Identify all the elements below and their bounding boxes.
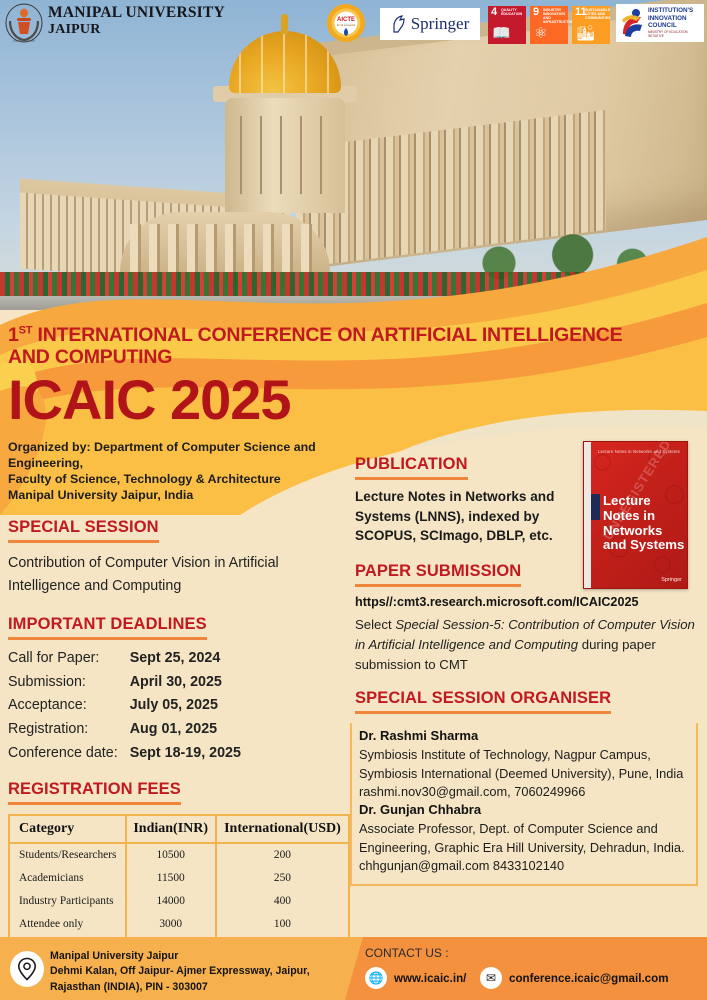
- address-line2: Dehmi Kalan, Off Jaipur- Ajmer Expresswa…: [50, 964, 310, 979]
- organized-by-line1: Organized by: Department of Computer Sci…: [8, 440, 350, 472]
- website-contact[interactable]: 🌐 www.icaic.in/: [365, 967, 466, 989]
- title-line2: AND COMPUTING: [8, 346, 172, 368]
- fees-cell-inr: 10500: [126, 843, 216, 867]
- deadline-value: Sept 25, 2024: [130, 647, 241, 671]
- sdg-4-glyph: 📖: [492, 26, 511, 41]
- deadline-row: Submission:April 30, 2025: [8, 670, 241, 694]
- iic-line2: INNOVATION: [648, 15, 704, 23]
- title-ordinal-suffix: ST: [19, 325, 33, 337]
- organized-by-line2: Faculty of Science, Technology & Archite…: [8, 472, 350, 488]
- paper-submission-heading: PAPER SUBMISSION: [355, 562, 521, 587]
- title-block: 1ST INTERNATIONAL CONFERENCE ON ARTIFICI…: [8, 324, 698, 428]
- deadline-value: Aug 01, 2025: [130, 718, 241, 742]
- university-name-line2: JAIPUR: [48, 22, 225, 37]
- iic-text: INSTITUTION'S INNOVATION COUNCIL MINISTR…: [648, 7, 704, 39]
- deadline-row: Call for Paper:Sept 25, 2024: [8, 647, 241, 671]
- conference-poster: INSPIRED BY LIFE MANIPAL UNIVERSITY JAIP…: [0, 0, 707, 1000]
- deadline-value: Sept 18-19, 2025: [130, 741, 241, 765]
- poster-header: INSPIRED BY LIFE MANIPAL UNIVERSITY JAIP…: [0, 0, 707, 46]
- organiser-entry: Dr. Gunjan Chhabra Associate Professor, …: [359, 801, 689, 875]
- pavement-kerb: [0, 296, 707, 310]
- fees-header-row: CategoryIndian(INR)International(USD): [9, 815, 349, 843]
- special-session-text: Contribution of Computer Vision in Artif…: [8, 552, 350, 598]
- organized-by-line3: Manipal University Jaipur, India: [8, 488, 350, 504]
- campus-photo: [0, 0, 707, 310]
- lnns-book-cover: Lecture Notes in Networks and Systems UN…: [583, 441, 688, 589]
- fees-column-header: Indian(INR): [126, 815, 216, 843]
- sdg-9-icon: 9 INDUSTRY INNOVATION AND INFRASTRUCTURE…: [530, 6, 568, 44]
- fees-column-header: International(USD): [216, 815, 349, 843]
- envelope-icon: ✉: [480, 967, 502, 989]
- registration-fees-table: CategoryIndian(INR)International(USD) St…: [8, 814, 350, 946]
- deadline-row: Registration:Aug 01, 2025: [8, 718, 241, 742]
- manipal-university-logo: INSPIRED BY LIFE: [4, 3, 44, 43]
- fees-cell-inr: 11500: [126, 867, 216, 890]
- svg-text:AICTE: AICTE: [337, 17, 355, 23]
- deadlines-table: Call for Paper:Sept 25, 2024Submission:A…: [8, 647, 241, 765]
- iic-logo: INSTITUTION'S INNOVATION COUNCIL MINISTR…: [616, 4, 704, 42]
- dome-drum: [225, 98, 345, 213]
- poster-footer: Manipal University Jaipur Dehmi Kalan, O…: [0, 937, 707, 1000]
- organiser-contact[interactable]: rashmi.nov30@gmail.com, 7060249966: [359, 783, 689, 801]
- university-name: MANIPAL UNIVERSITY JAIPUR: [48, 5, 225, 37]
- table-row: Industry Participants14000400: [9, 890, 349, 913]
- springer-wordmark: Springer: [411, 14, 470, 34]
- sdg-9-label: INDUSTRY INNOVATION AND INFRASTRUCTURE: [543, 8, 566, 24]
- publication-heading: PUBLICATION: [355, 455, 468, 480]
- website-url[interactable]: www.icaic.in/: [394, 972, 466, 985]
- deadline-label: Submission:: [8, 670, 130, 694]
- fees-cell-usd: 400: [216, 890, 349, 913]
- fees-heading: REGISTRATION FEES: [8, 780, 181, 805]
- title-ordinal: 1: [8, 324, 19, 346]
- deadlines-heading: IMPORTANT DEADLINES: [8, 615, 207, 640]
- organisers-heading: SPECIAL SESSION ORGANISER: [355, 689, 611, 714]
- organized-by: Organized by: Department of Computer Sci…: [8, 440, 350, 504]
- springer-knight-icon: [391, 14, 407, 34]
- deadline-label: Acceptance:: [8, 694, 130, 718]
- svg-text:for all prospects: for all prospects: [337, 23, 356, 27]
- organiser-affiliation: Symbiosis Institute of Technology, Nagpu…: [359, 746, 689, 783]
- deadline-row: Conference date:Sept 18-19, 2025: [8, 741, 241, 765]
- organisers-box: Dr. Rashmi SharmaSymbiosis Institute of …: [350, 723, 698, 885]
- organiser-affiliation: Associate Professor, Dept. of Computer S…: [359, 820, 689, 857]
- email-address[interactable]: conference.icaic@gmail.com: [509, 972, 669, 985]
- iic-figure-icon: [619, 8, 645, 38]
- deadlines-section: IMPORTANT DEADLINES Call for Paper:Sept …: [8, 615, 350, 765]
- conference-acronym: ICAIC 2025: [8, 372, 698, 428]
- springer-logo: Springer: [380, 8, 480, 40]
- footer-address: Manipal University Jaipur Dehmi Kalan, O…: [50, 949, 310, 995]
- deadline-value: April 30, 2025: [130, 670, 241, 694]
- location-pin-icon: [10, 951, 44, 987]
- fees-cell-usd: 250: [216, 867, 349, 890]
- book-spine: [584, 442, 591, 588]
- book-publisher: Springer: [661, 577, 682, 583]
- special-session-heading: SPECIAL SESSION: [8, 518, 159, 543]
- fees-cell-category: Students/Researchers: [9, 843, 126, 867]
- fees-cell-usd: 200: [216, 843, 349, 867]
- deadline-label: Call for Paper:: [8, 647, 130, 671]
- conference-title: 1ST INTERNATIONAL CONFERENCE ON ARTIFICI…: [8, 324, 698, 368]
- fees-cell-category: Academicians: [9, 867, 126, 890]
- organisers-section: SPECIAL SESSION ORGANISER Dr. Rashmi Sha…: [355, 689, 700, 885]
- sdg-11-glyph: 🏙: [576, 26, 595, 41]
- fees-column-header: Category: [9, 815, 126, 843]
- iic-subtitle: MINISTRY OF EDUCATION INITIATIVE: [648, 31, 704, 39]
- email-contact[interactable]: ✉ conference.icaic@gmail.com: [480, 967, 669, 989]
- book-navy-tab: [591, 494, 600, 520]
- left-column: Organized by: Department of Computer Sci…: [8, 440, 350, 945]
- organiser-name: Dr. Gunjan Chhabra: [359, 801, 689, 820]
- sdg-4-label: QUALITY EDUCATION: [501, 8, 524, 16]
- submission-url[interactable]: https//:cmt3.research.microsoft.com/ICAI…: [355, 595, 700, 609]
- table-row: Academicians11500250: [9, 867, 349, 890]
- book-title: Lecture Notes in Networks and Systems: [603, 494, 687, 553]
- iic-line1: INSTITUTION'S: [648, 7, 704, 15]
- sdg-11-label: SUSTAINABLE CITIES AND COMMUNITIES: [585, 8, 608, 20]
- sdg-9-glyph: ⚛: [534, 26, 547, 41]
- university-name-line1: MANIPAL UNIVERSITY: [48, 5, 225, 22]
- sdg-9-number: 9: [533, 7, 539, 18]
- globe-icon: 🌐: [365, 967, 387, 989]
- building-portico: [120, 212, 330, 272]
- deadline-label: Conference date:: [8, 741, 130, 765]
- sdg-4-icon: 4 QUALITY EDUCATION 📖: [488, 6, 526, 44]
- contact-us-label: CONTACT US :: [365, 946, 449, 960]
- sdg-11-icon: 11 SUSTAINABLE CITIES AND COMMUNITIES 🏙: [572, 6, 610, 44]
- submission-instruction: Select Special Session-5: Contribution o…: [355, 615, 700, 675]
- organiser-contact[interactable]: chhgunjan@gmail.com 8433102140: [359, 857, 689, 875]
- address-line3: Rajasthan (INDIA), PIN - 303007: [50, 980, 310, 995]
- special-session-section: SPECIAL SESSION Contribution of Computer…: [8, 518, 350, 598]
- deadline-row: Acceptance:July 05, 2025: [8, 694, 241, 718]
- deadline-label: Registration:: [8, 718, 130, 742]
- organiser-entry: Dr. Rashmi SharmaSymbiosis Institute of …: [359, 727, 689, 801]
- instruction-pre: Select: [355, 617, 395, 632]
- address-line1: Manipal University Jaipur: [50, 949, 310, 964]
- aicte-logo: AICTE for all prospects: [326, 3, 366, 43]
- publication-text: Lecture Notes in Networks and Systems (L…: [355, 487, 595, 546]
- fees-cell-category: Industry Participants: [9, 890, 126, 913]
- svg-text:INSPIRED BY LIFE: INSPIRED BY LIFE: [13, 40, 35, 43]
- deadline-value: July 05, 2025: [130, 694, 241, 718]
- fees-cell-inr: 14000: [126, 890, 216, 913]
- title-line1: INTERNATIONAL CONFERENCE ON ARTIFICIAL I…: [32, 324, 622, 346]
- sdg-4-number: 4: [491, 7, 497, 18]
- iic-line3: COUNCIL: [648, 22, 704, 30]
- fees-section: REGISTRATION FEES CategoryIndian(INR)Int…: [8, 780, 350, 946]
- table-row: Students/Researchers10500200: [9, 843, 349, 867]
- organiser-name: Dr. Rashmi Sharma: [359, 727, 689, 746]
